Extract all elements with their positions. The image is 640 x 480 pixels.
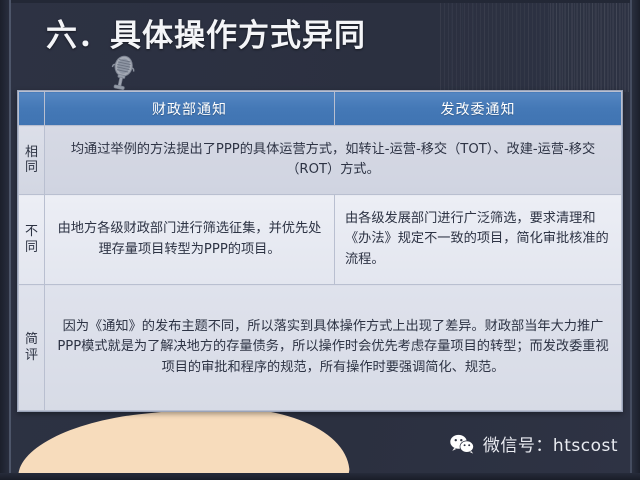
- table-header-row: 财政部通知 发改委通知: [19, 92, 622, 126]
- cell-text: 因为《通知》的发布主题不同，所以落实到具体操作方式上出现了差异。财政部当年大力推…: [51, 317, 615, 378]
- row-label-xiangtong: 相同: [19, 126, 45, 195]
- comparison-table: 财政部通知 发改委通知 相同 均通过举例的方法提出了PPP的具体运营方式，如转让…: [17, 90, 623, 412]
- row-butong-cell-caizhengbu: 由地方各级财政部门进行筛选征集，并优先处理存量项目转型为PPP的项目。: [45, 195, 335, 285]
- slide-edge-left-line: [9, 0, 11, 480]
- row-xiangtong-merged-cell: 均通过举例的方法提出了PPP的具体运营方式，如转让-运营-移交（TOT）、改建-…: [45, 126, 622, 195]
- table-row: 相同 均通过举例的方法提出了PPP的具体运营方式，如转让-运营-移交（TOT）、…: [19, 126, 622, 195]
- cell-text: 由各级发展部门进行广泛筛选，要求清理和《办法》规定不一致的项目，简化审批核准的流…: [341, 209, 615, 270]
- slide-edge-top: [0, 0, 640, 3]
- row-label-text: 不同: [25, 224, 38, 255]
- background-stripe-texture-dense: [550, 0, 640, 92]
- slide-edge-right-line: [630, 0, 632, 480]
- page-title: 六．具体操作方式异同: [46, 10, 366, 55]
- row-label-butong: 不同: [19, 195, 45, 285]
- slide-edge-bottom: [0, 473, 640, 480]
- header-cell-blank: [19, 92, 45, 126]
- table-row: 不同 由地方各级财政部门进行筛选征集，并优先处理存量项目转型为PPP的项目。 由…: [19, 195, 622, 285]
- row-jianping-merged-cell: 因为《通知》的发布主题不同，所以落实到具体操作方式上出现了差异。财政部当年大力推…: [45, 285, 622, 411]
- row-label-text: 相同: [25, 145, 38, 176]
- wechat-watermark: 微信号：htscost: [449, 431, 618, 456]
- cell-text: 由地方各级财政部门进行筛选征集，并优先处理存量项目转型为PPP的项目。: [51, 219, 328, 260]
- header-cell-fagaiwei: 发改委通知: [335, 92, 622, 126]
- header-cell-caizhengbu: 财政部通知: [45, 92, 335, 126]
- slide-canvas: 六．具体操作方式异同 财政部通知 发改委通知: [0, 0, 640, 480]
- row-butong-cell-fagaiwei: 由各级发展部门进行广泛筛选，要求清理和《办法》规定不一致的项目，简化审批核准的流…: [335, 195, 622, 285]
- row-label-text: 简评: [25, 332, 38, 363]
- cell-text: 均通过举例的方法提出了PPP的具体运营方式，如转让-运营-移交（TOT）、改建-…: [51, 140, 615, 181]
- row-label-jianping: 简评: [19, 285, 45, 411]
- wechat-icon: [449, 433, 475, 455]
- wechat-id-text: 微信号：htscost: [483, 431, 618, 456]
- table-row: 简评 因为《通知》的发布主题不同，所以落实到具体操作方式上出现了差异。财政部当年…: [19, 285, 622, 411]
